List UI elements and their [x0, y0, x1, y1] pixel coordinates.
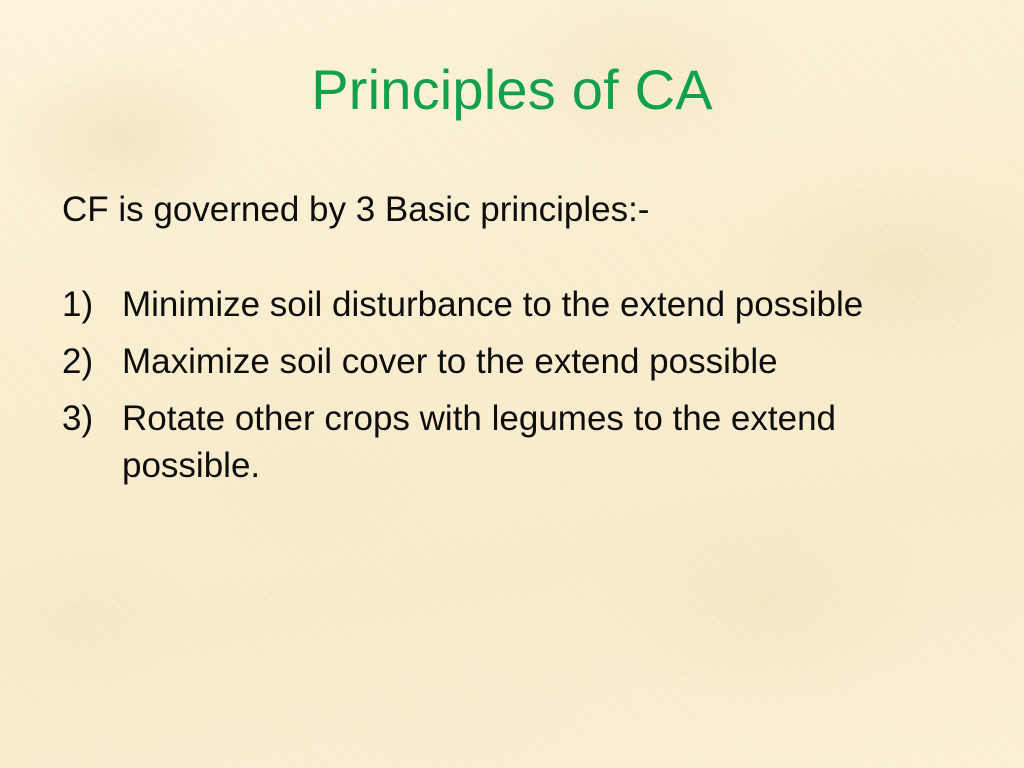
body-spacer [62, 233, 962, 281]
list-item-label: Maximize soil cover to the extend possib… [122, 338, 962, 385]
presentation-slide: Principles of CA CF is governed by 3 Bas… [0, 0, 1024, 768]
list-item-marker: 1) [62, 281, 114, 328]
list-item-marker: 2) [62, 338, 114, 385]
slide-body: CF is governed by 3 Basic principles:- 1… [62, 186, 962, 489]
list-item-label: Rotate other crops with legumes to the e… [122, 395, 962, 489]
list-item: 3) Rotate other crops with legumes to th… [62, 395, 962, 489]
list-item-marker: 3) [62, 395, 114, 442]
slide-content: Principles of CA CF is governed by 3 Bas… [0, 0, 1024, 768]
list-item: 2) Maximize soil cover to the extend pos… [62, 338, 962, 385]
intro-text: CF is governed by 3 Basic principles:- [62, 186, 962, 233]
principles-list: 1) Minimize soil disturbance to the exte… [62, 281, 962, 489]
list-item-label: Minimize soil disturbance to the extend … [122, 281, 962, 328]
page-title: Principles of CA [0, 57, 1024, 123]
list-item: 1) Minimize soil disturbance to the exte… [62, 281, 962, 328]
